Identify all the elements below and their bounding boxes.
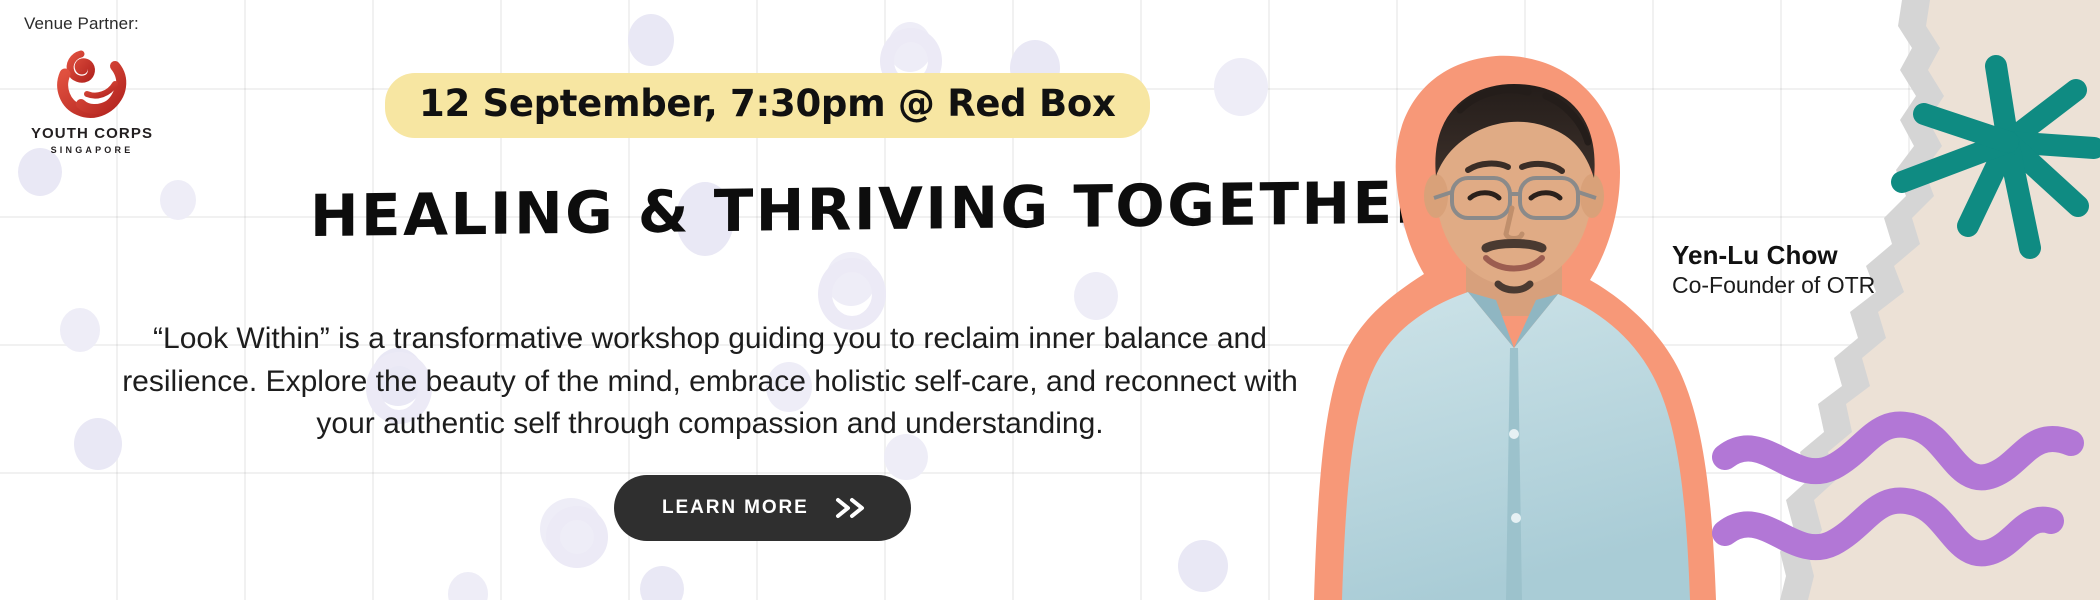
double-chevron-right-icon: [835, 497, 869, 519]
youth-corps-logo: YOUTH CORPS SINGAPORE: [24, 48, 160, 155]
venue-partner-block: Venue Partner: YOUTH CORPS SINGAPORE: [24, 14, 204, 155]
speaker-caption: Yen-Lu Chow Co-Founder of OTR: [1672, 240, 1875, 299]
youth-corps-swoosh-icon: [51, 48, 133, 120]
venue-partner-label: Venue Partner:: [24, 14, 204, 34]
purple-wavy-lines-icon: [1735, 405, 2100, 590]
confetti-dot: [640, 566, 684, 600]
speaker-name: Yen-Lu Chow: [1672, 240, 1875, 271]
speaker-photo: [1300, 48, 1730, 600]
event-description: “Look Within” is a transformative worksh…: [120, 318, 1300, 446]
confetti-dot: [1178, 540, 1228, 592]
logo-name: YOUTH CORPS: [24, 125, 160, 142]
event-date-pill: 12 September, 7:30pm @ Red Box: [385, 73, 1150, 138]
speaker-role: Co-Founder of OTR: [1672, 272, 1875, 299]
confetti-dot: [628, 14, 674, 66]
learn-more-label: LEARN MORE: [662, 497, 809, 519]
learn-more-button[interactable]: LEARN MORE: [614, 475, 911, 541]
confetti-dot: [74, 418, 122, 470]
confetti-dot: [448, 572, 488, 600]
confetti-dot: [160, 180, 196, 220]
event-promo-banner: Venue Partner: YOUTH CORPS SINGAPORE 12 …: [0, 0, 2100, 600]
confetti-dot: [60, 308, 100, 352]
teal-starburst-icon: [1880, 30, 2100, 260]
confetti-ring: [546, 506, 608, 568]
logo-subtitle: SINGAPORE: [24, 145, 160, 155]
confetti-dot: [18, 148, 62, 196]
confetti-dot: [1214, 58, 1268, 116]
page-title: HEALING & THRIVING TOGETHER: [310, 170, 1310, 250]
confetti-dot: [1074, 272, 1118, 320]
